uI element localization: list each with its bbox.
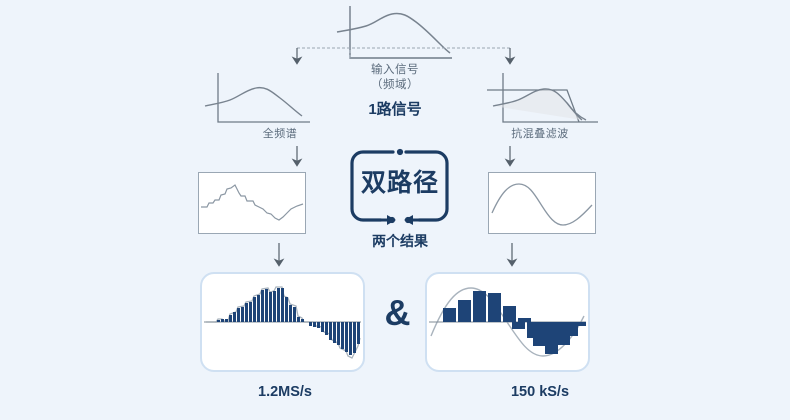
two-results-label: 两个结果 (345, 231, 455, 251)
full-spectrum-label: 全频谱 (225, 125, 335, 141)
high-rate-sampling-chart (202, 274, 363, 370)
high-rate-label: 1.2MS/s (215, 384, 355, 400)
anti-alias-filter-graph (487, 73, 598, 122)
input-signal-caption-line2: （频域） (330, 78, 460, 93)
wideband-waveform-box (198, 172, 306, 234)
filtered-sine-box (488, 172, 596, 234)
one-path-label: 1路信号 (330, 98, 460, 119)
input-spectrum-graph (337, 6, 452, 58)
wideband-waveform-plot (199, 173, 305, 233)
input-signal-caption: 输入信号 （频域） (330, 63, 460, 93)
anti-alias-filter-label: 抗混叠滤波 (480, 125, 600, 141)
input-signal-caption-line1: 输入信号 (330, 63, 460, 78)
ampersand-separator: & (375, 295, 420, 331)
low-rate-sampling-chart (427, 274, 588, 370)
filtered-sine-plot (489, 173, 595, 233)
full-spectrum-graph (205, 73, 310, 122)
dual-path-title: 双路径 (345, 163, 455, 199)
result-panel-high-rate (200, 272, 365, 372)
low-rate-label: 150 kS/s (465, 384, 615, 400)
result-panel-low-rate (425, 272, 590, 372)
branch-to-waveform-arrows (297, 146, 510, 162)
diagram-canvas: 输入信号 （频域） 1路信号 全频谱 抗混叠滤波 双路径 两个结果 & 1.2M… (0, 0, 790, 420)
